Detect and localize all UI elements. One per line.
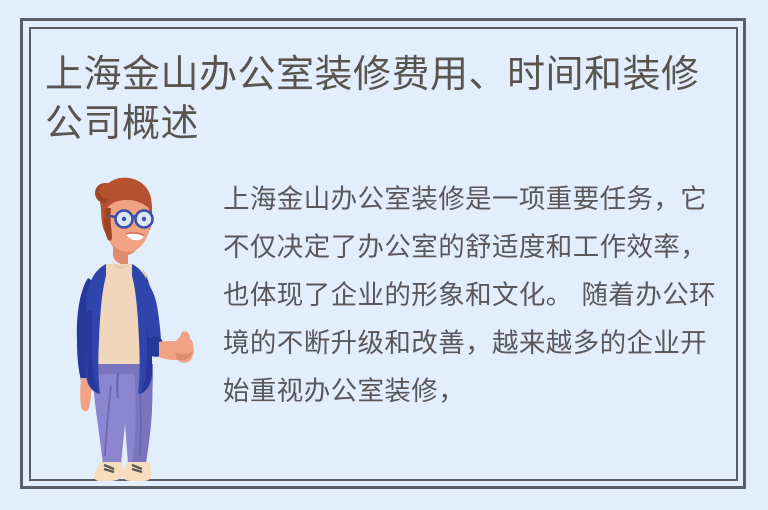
article-body-block: 上海金山办公室装修是一项重要任务，它不仅决定了办公室的舒适度和工作效率，也体现了… — [223, 176, 729, 416]
page-title: 上海金山办公室装修费用、时间和装修 公司概述 — [45, 50, 715, 148]
standing-person-thumbs-up-illustration — [62, 172, 194, 484]
article-body-text: 上海金山办公室装修是一项重要任务，它不仅决定了办公室的舒适度和工作效率，也体现了… — [223, 176, 729, 416]
card-content: 上海金山办公室装修费用、时间和装修 公司概述 — [0, 0, 768, 510]
article-card-stage: 上海金山办公室装修费用、时间和装修 公司概述 — [0, 0, 768, 510]
